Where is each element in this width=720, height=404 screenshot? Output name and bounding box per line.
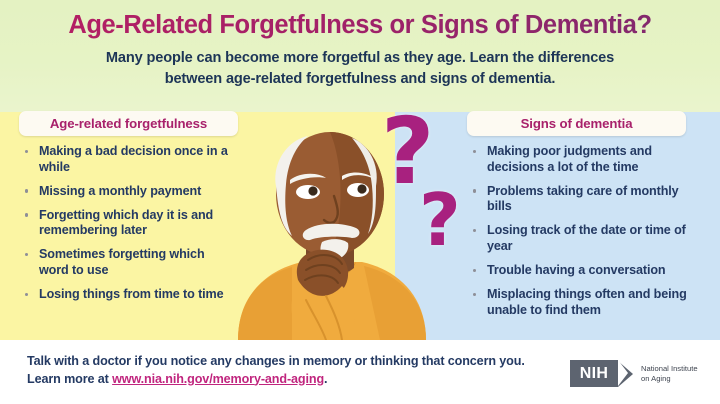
nia-name-line-1: National Institute xyxy=(641,364,698,374)
nih-nia-logo: NIH National Institute on Aging xyxy=(570,360,698,387)
list-item: Forgetting which day it is and rememberi… xyxy=(22,208,237,239)
nia-name-line-2: on Aging xyxy=(641,374,698,384)
label-age-related-forgetfulness: Age-related forgetfulness xyxy=(19,111,238,136)
footer-text-after: . xyxy=(324,372,327,386)
person-svg xyxy=(230,110,430,340)
nih-wordmark: NIH xyxy=(570,360,618,387)
footer-message: Talk with a doctor if you notice any cha… xyxy=(27,353,527,388)
list-item: Making poor judgments and decisions a lo… xyxy=(470,144,698,175)
page-title: Age-Related Forgetfulness or Signs of De… xyxy=(0,11,720,40)
list-item: Problems taking care of monthly bills xyxy=(470,184,698,215)
list-item: Sometimes forgetting which word to use xyxy=(22,247,237,278)
page-subtitle: Many people can become more forgetful as… xyxy=(34,48,686,90)
list-item: Making a bad decision once in a while xyxy=(22,144,237,175)
chevron-inner-icon xyxy=(618,360,628,386)
subtitle-line-2: between age-related forgetfulness and si… xyxy=(34,69,686,90)
list-item: Losing things from time to time xyxy=(22,287,237,303)
nia-name: National Institute on Aging xyxy=(641,364,698,384)
footer: Talk with a doctor if you notice any cha… xyxy=(0,340,720,404)
list-item: Misplacing things often and being unable… xyxy=(470,287,698,318)
older-man-thinking-illustration xyxy=(230,110,430,340)
label-signs-of-dementia: Signs of dementia xyxy=(467,111,686,136)
list-item: Missing a monthly payment xyxy=(22,184,237,200)
infographic-root: Age-Related Forgetfulness or Signs of De… xyxy=(0,0,720,404)
list-age-related-forgetfulness: Making a bad decision once in a while Mi… xyxy=(22,144,237,311)
list-item: Losing track of the date or time of year xyxy=(470,223,698,254)
list-item: Trouble having a conversation xyxy=(470,263,698,279)
nia-memory-and-aging-link[interactable]: www.nia.nih.gov/memory-and-aging xyxy=(112,372,324,386)
header-band: Age-Related Forgetfulness or Signs of De… xyxy=(0,0,720,112)
subtitle-line-1: Many people can become more forgetful as… xyxy=(34,48,686,69)
list-signs-of-dementia: Making poor judgments and decisions a lo… xyxy=(470,144,698,327)
nih-mark: NIH xyxy=(570,360,633,387)
